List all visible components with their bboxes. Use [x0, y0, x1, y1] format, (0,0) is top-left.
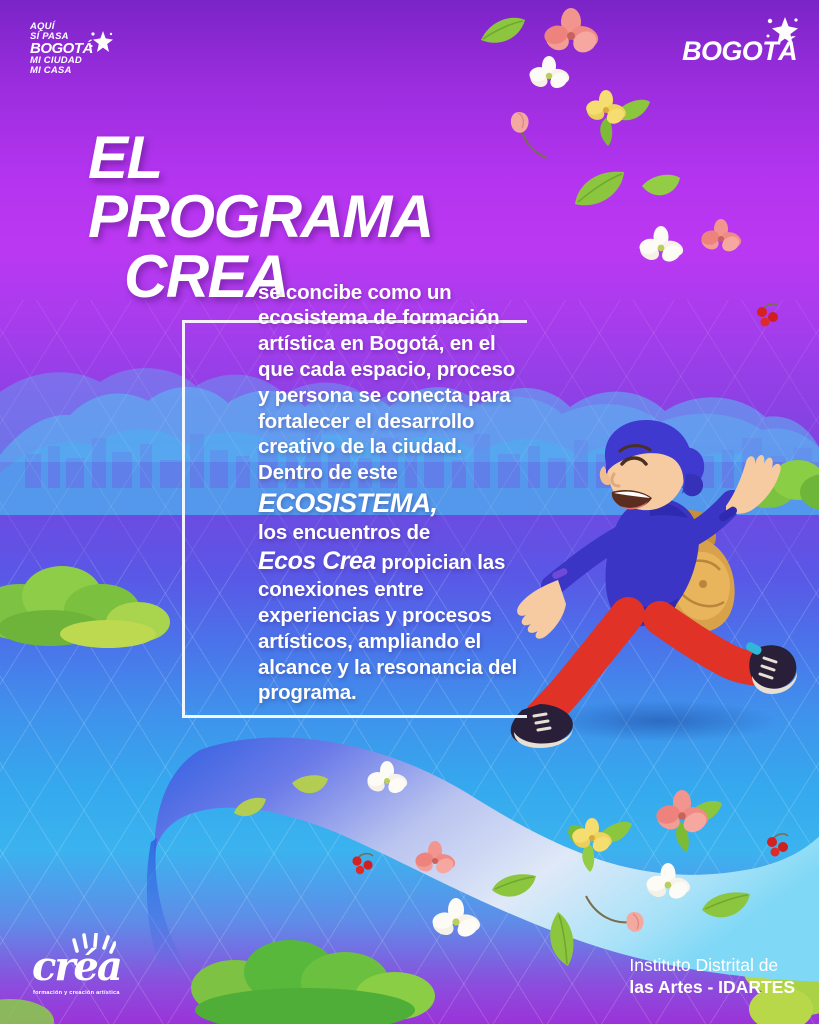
idartes-line-2: las Artes - IDARTES: [629, 977, 795, 998]
body-paragraph-2: Dentro de este ECOSISTEMA, los encuentro…: [258, 460, 526, 706]
flower-white-icon: [528, 55, 570, 97]
leaf-icon: [572, 168, 628, 210]
flower-bud-icon: [582, 890, 648, 934]
poster-canvas: AQUÍ SÍ PASA BOGOTÁ MI CIUDAD MI CASA BO…: [0, 0, 819, 1024]
logo-crea-tagline: formación y creación artística: [32, 990, 121, 996]
star-icon: [88, 30, 114, 60]
character-head: [600, 420, 704, 510]
leaf-icon: [470, 20, 512, 54]
character-back-shoe: [745, 641, 797, 694]
berries-icon: [752, 298, 788, 332]
berries-icon: [762, 828, 798, 862]
logo-crea[interactable]: créa formación y creación artística: [32, 947, 121, 996]
running-student-illustration: [500, 418, 800, 768]
berries-icon: [348, 848, 382, 880]
leaf-icon: [232, 795, 268, 821]
character-legs: [542, 614, 768, 716]
bush-left-mid: [0, 540, 180, 650]
idartes-credit: Instituto Distrital de las Artes - IDART…: [629, 955, 795, 998]
body-paragraph-1: se concibe como un ecosistema de formaci…: [258, 280, 520, 461]
logo-aqui-si-pasa-bogota[interactable]: AQUÍ SÍ PASA BOGOTÁ MI CIUDAD MI CASA: [30, 22, 108, 75]
flower-yellow-icon: [566, 812, 632, 874]
leaf-icon: [490, 872, 538, 906]
logo-aqui-line5: MI CASA: [30, 66, 108, 76]
flower-white-icon: [645, 862, 691, 908]
headline-line-2: PROGRAMA: [88, 187, 548, 246]
headline-line-1: EL: [88, 128, 548, 187]
sunburst-rays-icon: [72, 933, 116, 960]
flower-pink-icon: [650, 790, 722, 854]
flower-yellow-icon: [584, 88, 650, 146]
flower-pink-icon: [414, 840, 456, 882]
paragraph2-intro: Dentro de este: [258, 461, 398, 484]
paragraph2-emphasis-ecosistema: ECOSISTEMA,: [258, 486, 526, 520]
paragraph2-emphasis-ecoscrea: Ecos Crea: [258, 547, 376, 575]
flower-white-icon: [432, 898, 480, 946]
leaf-icon: [540, 910, 582, 970]
leaf-icon: [290, 773, 330, 801]
flower-pink-icon: [700, 218, 742, 260]
flower-white-icon: [366, 760, 408, 802]
leaf-icon: [700, 890, 752, 928]
idartes-line-1: Instituto Distrital de: [629, 955, 795, 976]
paragraph2-mid: los encuentros de: [258, 521, 430, 544]
flower-white-icon: [638, 225, 684, 271]
logo-bogota[interactable]: BOGOTÁ: [682, 36, 797, 67]
star-icon: [761, 14, 801, 61]
leaf-icon: [640, 172, 682, 206]
